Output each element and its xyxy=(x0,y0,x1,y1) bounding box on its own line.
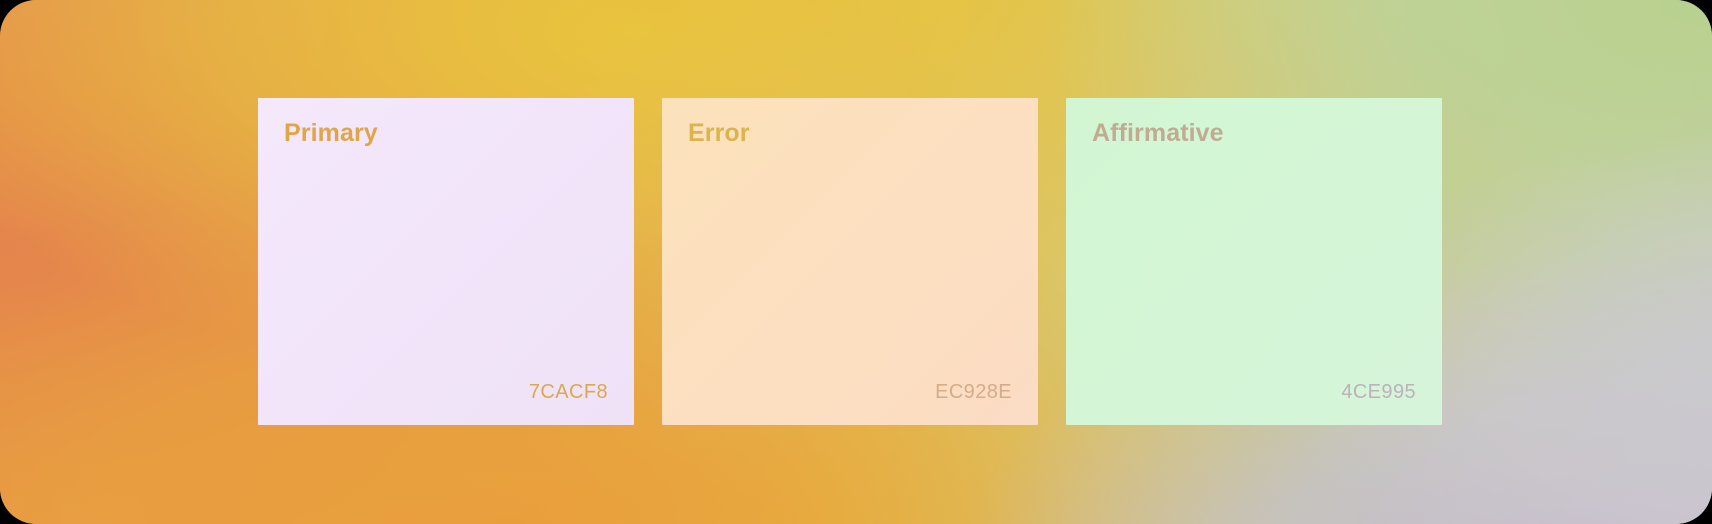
swatch-card-error[interactable]: Error EC928E xyxy=(662,98,1038,425)
swatch-title: Error xyxy=(688,120,1012,148)
swatch-card-primary[interactable]: Primary 7CACF8 xyxy=(258,98,634,425)
swatch-card-affirmative[interactable]: Affirmative 4CE995 xyxy=(1066,98,1442,425)
swatch-hex-value: 4CE995 xyxy=(1341,381,1416,403)
palette-canvas: Primary 7CACF8 Error EC928E Affirmative … xyxy=(0,0,1712,524)
swatch-title: Primary xyxy=(284,120,608,148)
swatch-hex-value: EC928E xyxy=(935,381,1012,403)
swatch-hex-value: 7CACF8 xyxy=(529,381,608,403)
swatch-row: Primary 7CACF8 Error EC928E Affirmative … xyxy=(258,98,1442,425)
swatch-title: Affirmative xyxy=(1092,120,1416,148)
